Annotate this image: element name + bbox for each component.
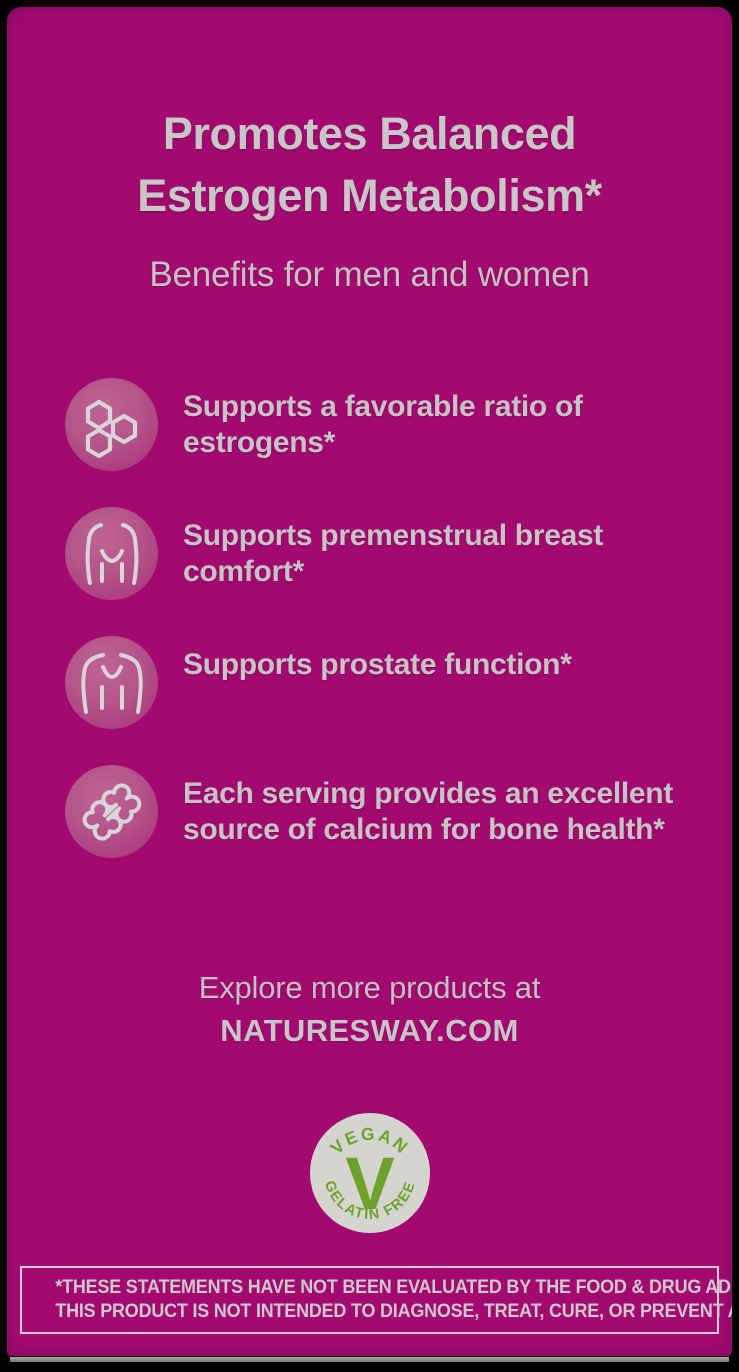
benefit-item: Supports prostate function*: [62, 633, 692, 735]
vegan-seal-wrapper: VEGAN V GELATIN FREE: [7, 1111, 732, 1235]
disclaimer-line-1: *THESE STATEMENTS HAVE NOT BEEN EVALUATE…: [55, 1275, 683, 1300]
explore-block: Explore more products at NATURESWAY.COM: [7, 970, 732, 1049]
disclaimer-line-2: THIS PRODUCT IS NOT INTENDED TO DIAGNOSE…: [55, 1299, 683, 1324]
page-title: Promotes Balanced Estrogen Metabolism*: [7, 103, 732, 227]
headline-line-2: Estrogen Metabolism*: [41, 165, 698, 227]
vegan-gelatin-free-seal-icon: VEGAN V GELATIN FREE: [308, 1111, 432, 1235]
carton-bottom-edge: [10, 1357, 729, 1362]
benefits-list: Supports a favorable ratio of estrogens*…: [7, 375, 732, 864]
benefit-label: Supports premenstrual breast comfort*: [183, 504, 692, 589]
male-torso-icon: [62, 633, 161, 732]
benefit-item: Supports premenstrual breast comfort*: [62, 504, 692, 606]
benefit-label: Supports prostate function*: [183, 633, 572, 682]
benefit-item: Supports a favorable ratio of estrogens*: [62, 375, 692, 477]
carton-face: Promotes Balanced Estrogen Metabolism* B…: [7, 7, 732, 1356]
benefit-label: Supports a favorable ratio of estrogens*: [183, 375, 692, 460]
headline-line-1: Promotes Balanced: [41, 103, 698, 165]
benefit-item: Each serving provides an excellent sourc…: [62, 762, 692, 864]
fda-disclaimer: *THESE STATEMENTS HAVE NOT BEEN EVALUATE…: [20, 1266, 719, 1334]
subheading: Benefits for men and women: [7, 255, 732, 295]
explore-prompt: Explore more products at: [7, 970, 732, 1006]
bone-icon: [62, 762, 161, 861]
website-url[interactable]: NATURESWAY.COM: [7, 1013, 732, 1049]
benefit-label: Each serving provides an excellent sourc…: [183, 762, 692, 847]
hexagons-molecule-icon: [62, 375, 161, 474]
product-package-panel: Promotes Balanced Estrogen Metabolism* B…: [0, 0, 739, 1372]
female-torso-icon: [62, 504, 161, 603]
header-block: Promotes Balanced Estrogen Metabolism* B…: [7, 7, 732, 295]
